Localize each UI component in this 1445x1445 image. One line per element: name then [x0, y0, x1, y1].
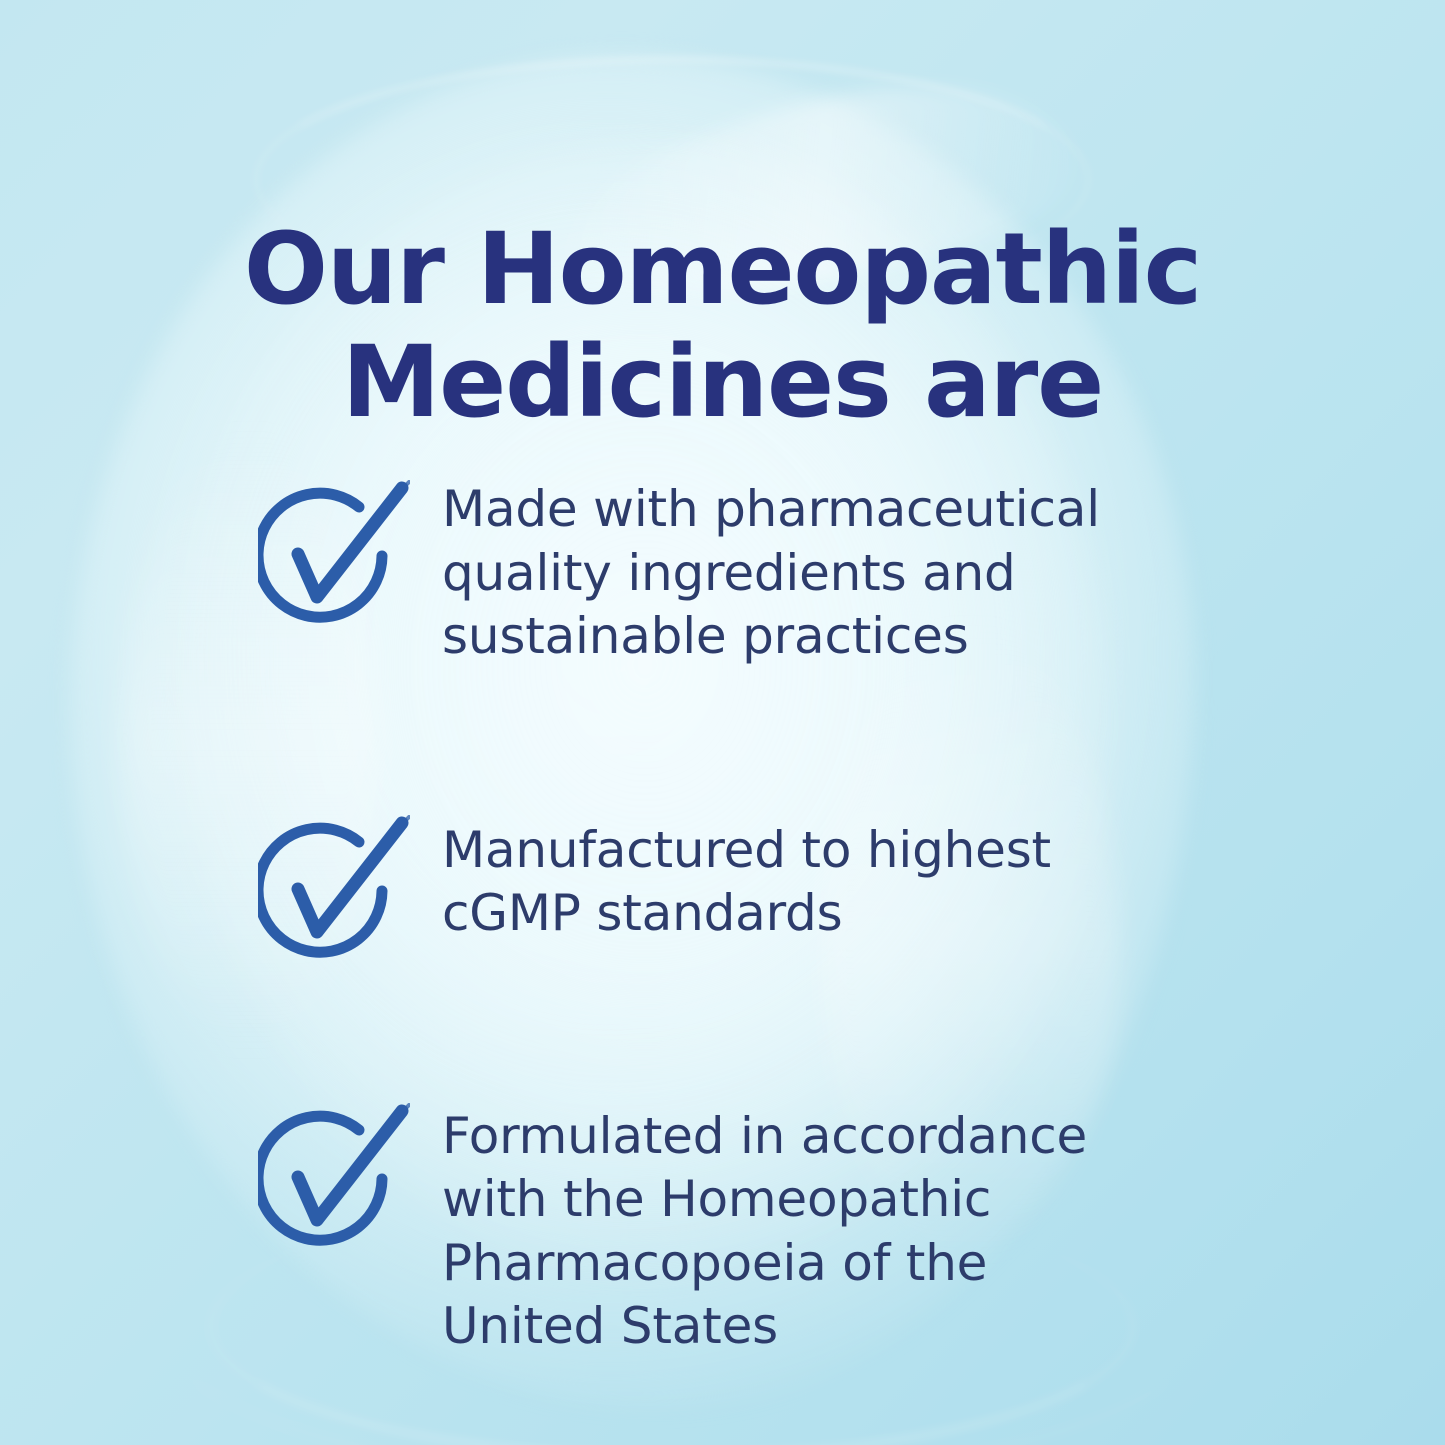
- list-item-line: quality ingredients and: [442, 544, 1016, 602]
- circle-check-icon: [258, 815, 410, 975]
- list-item-line: Manufactured to highest: [442, 821, 1051, 879]
- list-item-line: sustainable practices: [442, 607, 969, 665]
- circle-check-icon: [258, 480, 410, 640]
- list-item: Manufactured to highest cGMP standards: [258, 777, 1218, 975]
- list-item: Formulated in accordance with the Homeop…: [258, 1083, 1218, 1359]
- list-item-label: Made with pharmaceutical quality ingredi…: [410, 470, 1218, 669]
- list-item-line: Formulated in accordance: [442, 1107, 1087, 1165]
- list-item-line: cGMP standards: [442, 884, 842, 942]
- list-item-line: with the Homeopathic: [442, 1170, 991, 1228]
- list-item-label: Formulated in accordance with the Homeop…: [410, 1083, 1218, 1359]
- list-item-line: Pharmacopoeia of the: [442, 1234, 987, 1292]
- promo-poster: Our Homeopathic Medicines are Made with …: [0, 0, 1445, 1445]
- page-title-line-1: Our Homeopathic: [0, 214, 1445, 327]
- page-title-line-2: Medicines are: [0, 327, 1445, 440]
- list-item-line: Made with pharmaceutical: [442, 480, 1100, 538]
- list-item: Made with pharmaceutical quality ingredi…: [258, 470, 1218, 669]
- list-item-label: Manufactured to highest cGMP standards: [410, 777, 1218, 946]
- page-title: Our Homeopathic Medicines are: [0, 214, 1445, 440]
- benefit-list: Made with pharmaceutical quality ingredi…: [258, 470, 1218, 1359]
- circle-check-icon: [258, 1103, 410, 1263]
- list-item-line: United States: [442, 1297, 778, 1355]
